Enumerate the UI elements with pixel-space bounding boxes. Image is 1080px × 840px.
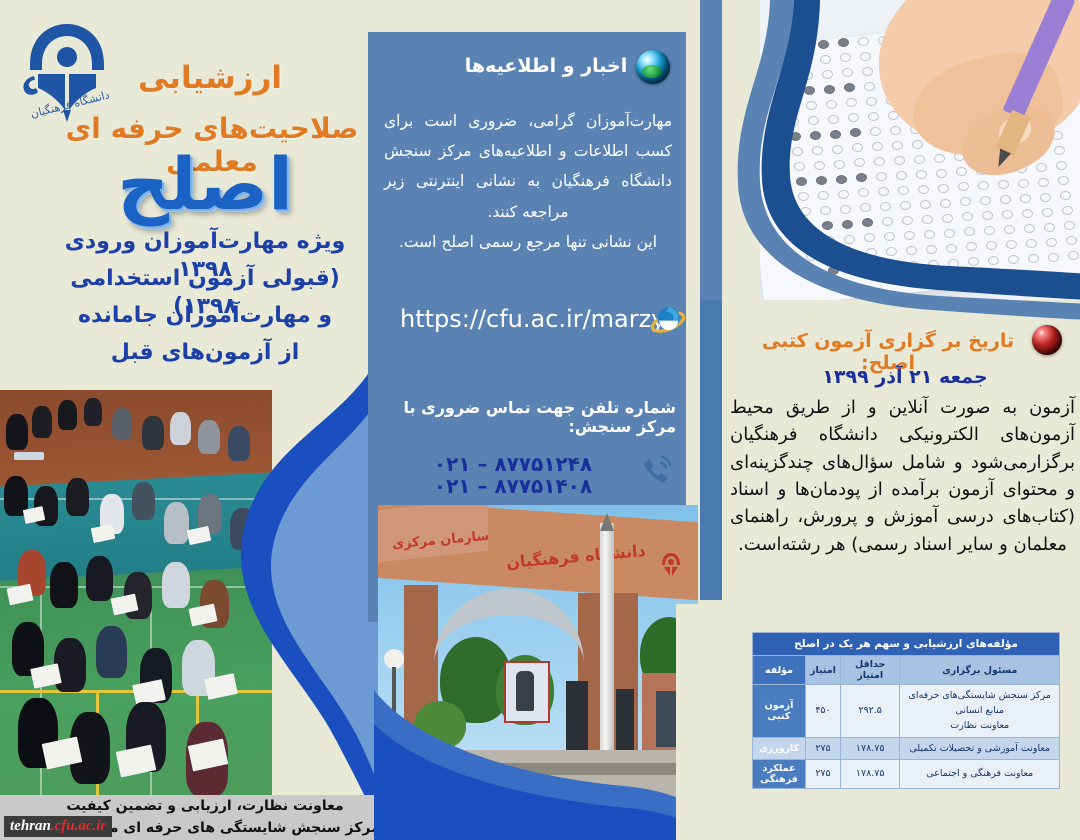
phone-number-2: ۰۲۱ – ۸۷۷۵۱۴۰۸: [398, 474, 628, 498]
site-watermark: tehran.cfu.ac.ir: [4, 816, 112, 837]
news-heading: اخبار و اطلاعیه‌ها: [368, 55, 686, 77]
phone-label: شماره تلفن جهت تماس ضروری با مرکز سنجش:: [380, 398, 676, 436]
exam-description: آزمون به صورت آنلاین و از طریق محیط آزمو…: [730, 394, 1075, 558]
exam-date-value: جمعه ۲۱ آذر ۱۳۹۹: [740, 366, 1070, 388]
table-title-row: مؤلفه‌های ارزشیابی و سهم هر یک در اصلح: [753, 633, 1060, 656]
cell-component: عملکرد فرهنگی: [753, 759, 806, 788]
footer-line1: معاونت نظارت، ارزیابی و تضمین کیفیت: [0, 798, 410, 814]
gate-emblem-icon: [656, 549, 686, 579]
cell-component: آزمون کتبی: [753, 685, 806, 738]
gate-right-mask: [676, 604, 706, 840]
news-note-text: این نشانی تنها مرجع رسمی اصلح است.: [384, 228, 672, 257]
exam-hall-photo: [0, 390, 272, 800]
headline-sub3: و مهارت‌آموزان جامانده: [60, 302, 350, 330]
cell-responsible: معاونت فرهنگی و اجتماعی: [900, 759, 1060, 788]
responsible-line2: معاونت نظارت: [950, 720, 1009, 731]
responsible-line1: مرکز سنجش شایستگی‌های حرفه‌ای منابع انسا…: [909, 690, 1051, 716]
col-score: امتیاز: [806, 656, 841, 685]
table-row: معاونت فرهنگی و اجتماعی ۱۷۸.۷۵ ۲۷۵ عملکر…: [753, 759, 1060, 788]
phone-icon: [636, 448, 678, 490]
website-url[interactable]: https://cfu.ac.ir/marzya: [400, 305, 630, 333]
page-title: اصلح: [65, 148, 345, 220]
headline-sub4: از آزمون‌های قبل: [60, 339, 350, 367]
poster-canvas: دانشگاه فرهنگیان ارزشیابی صلاحیت‌های حرف…: [0, 0, 1080, 840]
headline-line1: ارزشیابی: [70, 60, 350, 96]
cell-min-score: ۲۹۲.۵: [840, 685, 899, 738]
col-min-score: حداقل امتیاز: [840, 656, 899, 685]
news-body-text: مهارت‌آموزان گرامی، ضروری است برای کسب ا…: [384, 106, 672, 227]
col-responsible: مسئول برگزاری: [900, 656, 1060, 685]
cell-score: ۲۷۵: [806, 737, 841, 759]
answer-sheet-hand-photo: [760, 0, 1080, 300]
cell-component: کارورزی: [753, 737, 806, 759]
left-blue-strip-top: [700, 0, 722, 300]
left-blue-strip-bottom: [700, 300, 722, 600]
watermark-right: .cfu.ac.ir: [51, 818, 106, 834]
university-gate-photo: سازمان مرکزی دانشگاه فرهنگیان: [378, 505, 698, 840]
phone-number-1: ۰۲۱ – ۸۷۷۵۱۲۴۸: [398, 452, 628, 476]
table-title: مؤلفه‌های ارزشیابی و سهم هر یک در اصلح: [753, 633, 1060, 656]
assessment-table: مؤلفه‌های ارزشیابی و سهم هر یک در اصلح م…: [752, 632, 1060, 789]
cell-min-score: ۱۷۸.۷۵: [840, 737, 899, 759]
table-header-row: مسئول برگزاری حداقل امتیاز امتیاز مؤلفه: [753, 656, 1060, 685]
col-component: مؤلفه: [753, 656, 806, 685]
watermark-left: tehran: [10, 818, 51, 834]
cell-score: ۲۷۵: [806, 759, 841, 788]
table-row: مرکز سنجش شایستگی‌های حرفه‌ای منابع انسا…: [753, 685, 1060, 738]
cell-responsible: معاونت آموزشی و تحصیلات تکمیلی: [900, 737, 1060, 759]
cell-score: ۴۵۰: [806, 685, 841, 738]
table-row: معاونت آموزشی و تحصیلات تکمیلی ۱۷۸.۷۵ ۲۷…: [753, 737, 1060, 759]
cell-min-score: ۱۷۸.۷۵: [840, 759, 899, 788]
cell-responsible: مرکز سنجش شایستگی‌های حرفه‌ای منابع انسا…: [900, 685, 1060, 738]
internet-explorer-icon[interactable]: [648, 300, 688, 338]
